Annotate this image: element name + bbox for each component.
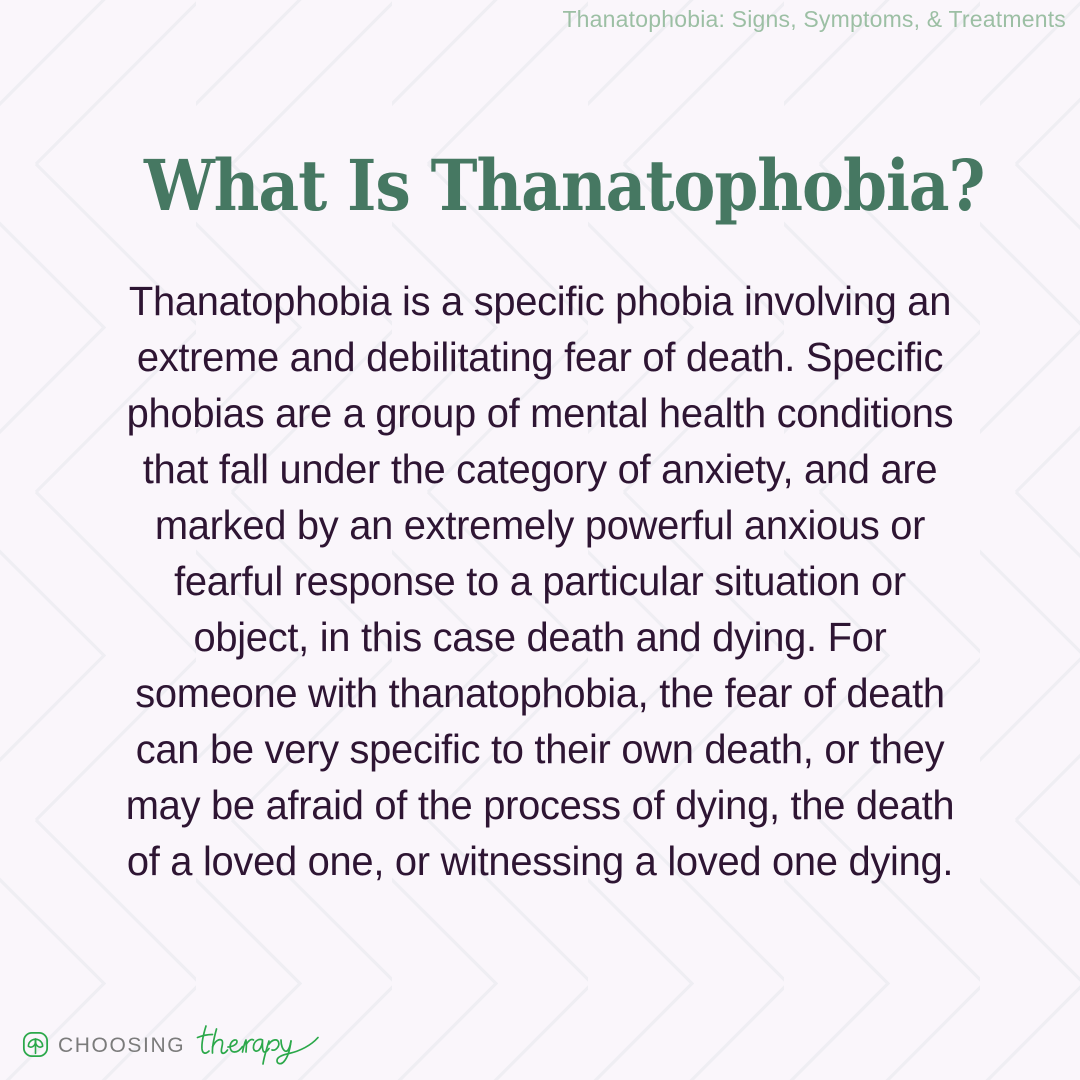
brand-logo[interactable]: CHOOSING [22,1022,323,1066]
content-column: What Is Thanatophobia? Thanatophobia is … [100,150,980,889]
logo-word-therapy-script [193,1022,323,1066]
article-eyebrow-title: Thanatophobia: Signs, Symptoms, & Treatm… [562,6,1066,33]
leaf-flower-icon [22,1031,49,1058]
body-paragraph: Thanatophobia is a specific phobia invol… [115,273,964,889]
page-title: What Is Thanatophobia? [144,150,936,221]
logo-word-choosing: CHOOSING [58,1035,185,1056]
social-card: Thanatophobia: Signs, Symptoms, & Treatm… [0,0,1080,1080]
